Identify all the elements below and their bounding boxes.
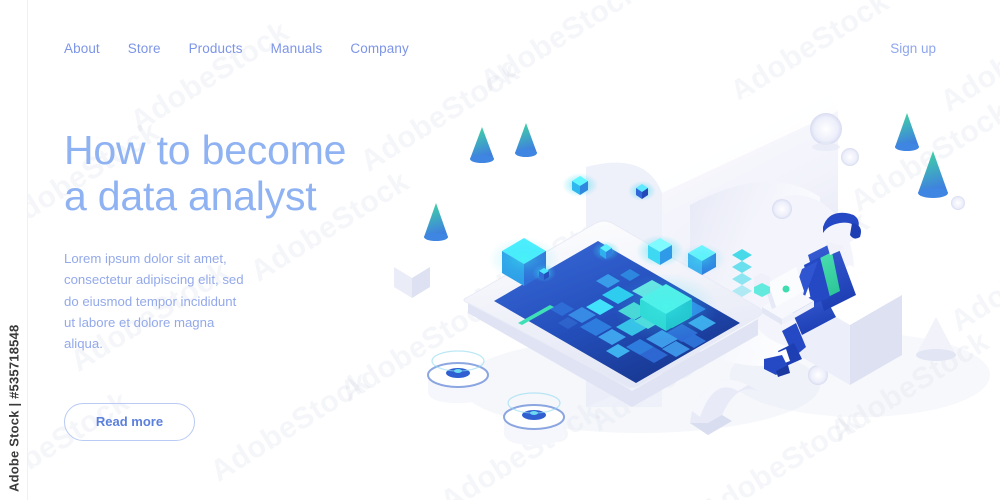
nav-link-manuals[interactable]: Manuals	[271, 41, 323, 56]
hero-description: Lorem ipsum dolor sit amet, consectetur …	[64, 248, 249, 355]
hero-section: How to become a data analyst Lorem ipsum…	[64, 128, 444, 441]
page-title: How to become a data analyst	[64, 128, 444, 220]
hero-illustration	[390, 55, 1000, 475]
stock-attribution-text: Adobe Stock | #535718548	[6, 325, 21, 492]
stock-attribution-rail: Adobe Stock | #535718548	[0, 0, 28, 500]
small-bottle	[754, 273, 770, 297]
nav-link-products[interactable]: Products	[189, 41, 243, 56]
sign-up-link[interactable]: Sign up	[890, 41, 936, 56]
watermark-tile: AdobeStock	[125, 15, 296, 139]
page-title-line1: How to become	[64, 127, 346, 173]
nav-link-store[interactable]: Store	[128, 41, 161, 56]
main-navigation: About Store Products Manuals Company	[64, 41, 409, 56]
nav-link-company[interactable]: Company	[350, 41, 408, 56]
nav-link-about[interactable]: About	[64, 41, 100, 56]
page-title-line2: a data analyst	[64, 174, 444, 220]
page-canvas: AdobeStock AdobeStock AdobeStock AdobeSt…	[0, 0, 1000, 500]
read-more-button[interactable]: Read more	[64, 403, 195, 441]
